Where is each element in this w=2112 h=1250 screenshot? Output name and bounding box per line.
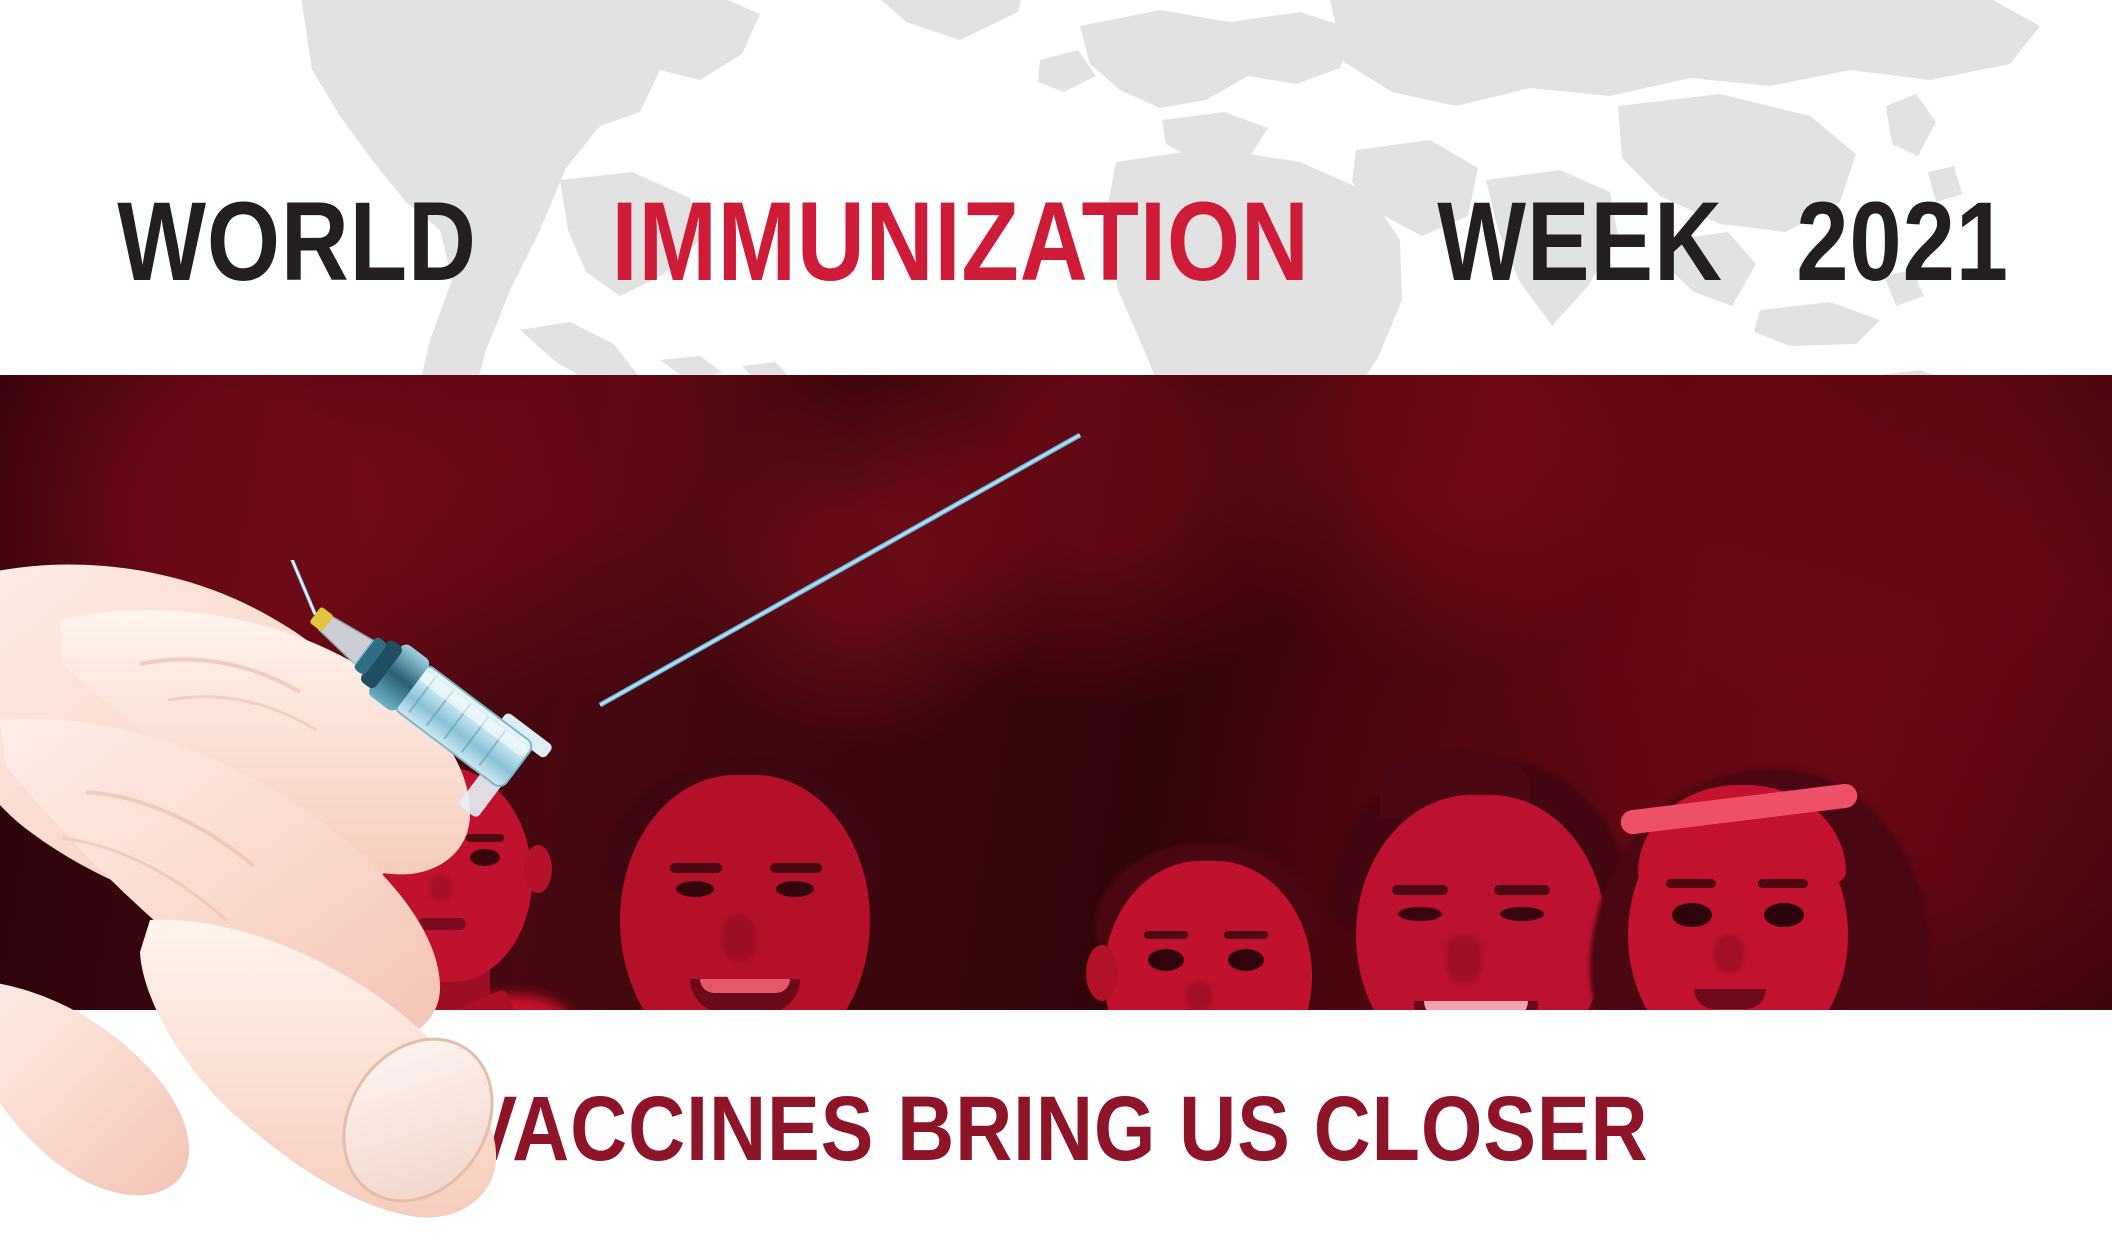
title-word-year: 2021 [1796, 186, 2009, 298]
photo-inner: OMMY [0, 375, 2112, 1010]
title-word-week: WEEK [1437, 186, 1723, 298]
poster-canvas: WORLDIMMUNIZATIONWEEK2021 [0, 0, 2112, 1250]
title-word-immunization: IMMUNIZATION [611, 186, 1309, 298]
needle-streak [0, 375, 2112, 1010]
family-photo-band: OMMY [0, 375, 2112, 1010]
page-title: WORLDIMMUNIZATIONWEEK2021 [0, 186, 2112, 298]
tagline: VACCINES BRING US CLOSER [0, 1083, 2112, 1175]
tagline-text: VACCINES BRING US CLOSER [464, 1083, 1648, 1175]
header-band: WORLDIMMUNIZATIONWEEK2021 [0, 0, 2112, 375]
title-word-world: WORLD [117, 186, 477, 298]
